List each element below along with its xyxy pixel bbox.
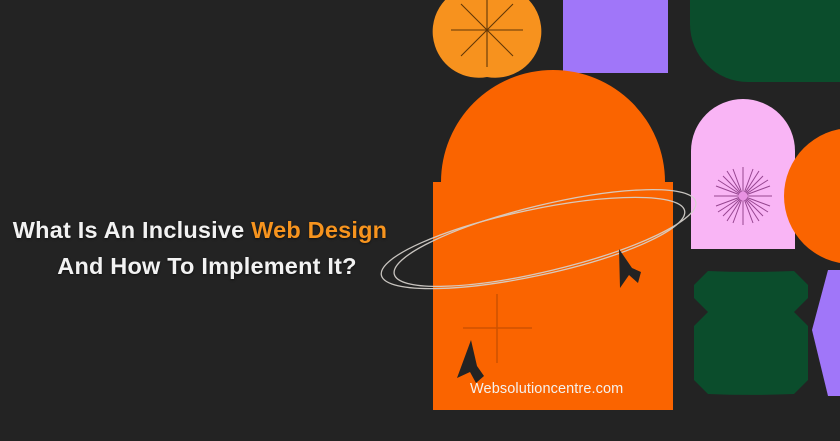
green-double-blob <box>694 271 808 395</box>
purple-square <box>563 0 668 73</box>
blog-banner: What Is An Inclusive Web Design And How … <box>0 0 840 441</box>
green-rounded-panel <box>690 0 840 82</box>
decorative-artwork <box>0 0 840 441</box>
amber-blob-top <box>433 0 542 78</box>
pink-arch <box>691 99 795 249</box>
